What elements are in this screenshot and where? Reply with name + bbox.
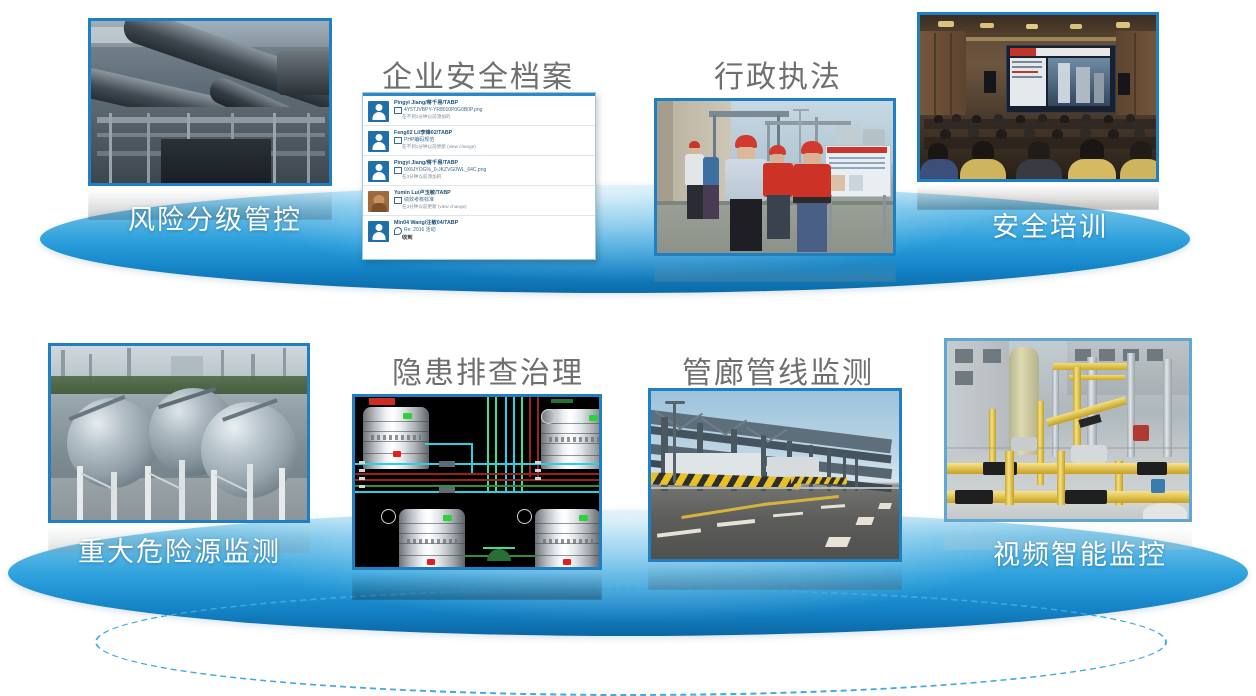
- list-item-detail: PHP编码规范: [394, 137, 590, 144]
- spherical-tanks-photo: [48, 343, 310, 523]
- list-item[interactable]: Yumin Lu/卢玉敏/TABP 绩效考核标准 在3分钟以前更新 (view …: [363, 186, 595, 216]
- list-item[interactable]: Min04 Wang/汪敏04/TABP Re: 2016 活动 收到: [363, 216, 595, 245]
- gauge-icon: [541, 409, 556, 424]
- gauge-icon: [381, 509, 396, 524]
- list-item-user: Min04 Wang/汪敏04/TABP: [394, 220, 590, 227]
- document-file-icon: [394, 137, 402, 144]
- list-item-user: Pingyi Jiang/蒋千易/TABP: [394, 100, 590, 107]
- list-item-meta: 在3分钟以前添加的: [394, 174, 590, 180]
- image-file-icon: [394, 107, 402, 114]
- avatar: [368, 101, 389, 122]
- activity-feed-panel[interactable]: Pingyi Jiang/蒋千易/TABP 4Y5TJVBPY-YR8010P0…: [362, 92, 596, 260]
- list-item-user: Feng02 Li/李锋02/TABP: [394, 130, 590, 137]
- list-item-detail: 0X6JYOG%_0-JKZVG0WL_64C.png: [394, 167, 590, 174]
- label-safety-training: 安全培训: [992, 205, 1108, 244]
- list-item-meta: 在不到1分钟以前更新 (view change): [394, 144, 590, 150]
- industrial-pipeline-photo: [88, 18, 332, 186]
- title-safety-archive: 企业安全档案: [374, 52, 582, 96]
- yellow-pipes-plant-photo: [944, 338, 1192, 522]
- avatar: [368, 131, 389, 152]
- pipe-rack-corridor-photo: [648, 388, 902, 562]
- avatar: [368, 191, 389, 212]
- title-pipeline-monitor: 管廊管线监测: [674, 348, 882, 392]
- list-item-meta: 在不到1分钟以前添加的: [394, 114, 590, 120]
- list-item-detail: 绩效考核标准: [394, 197, 590, 204]
- plant-inspection-photo: [654, 98, 896, 256]
- label-video-monitor: 视频智能监控: [993, 533, 1167, 572]
- scada-tank-farm-screen: [352, 394, 602, 570]
- gauge-icon: [517, 509, 532, 524]
- list-item[interactable]: Feng02 Li/李锋02/TABP PHP编码规范 在不到1分钟以前更新 (…: [363, 126, 595, 156]
- list-item-detail: 4Y5TJVBPY-YR8010P0G0B0P.png: [394, 107, 590, 114]
- list-item-meta: 在3分钟以前更新 (view change): [394, 204, 590, 210]
- list-item[interactable]: Pingyi Jiang/蒋千易/TABP 0X6JYOG%_0-JKZVG0W…: [363, 156, 595, 186]
- list-item-meta: 收到: [394, 235, 590, 242]
- list-item[interactable]: Pingyi Jiang/蒋千易/TABP 4Y5TJVBPY-YR8010P0…: [363, 96, 595, 126]
- list-item-detail: Re: 2016 活动: [394, 227, 590, 235]
- avatar: [368, 161, 389, 182]
- document-file-icon: [394, 197, 402, 204]
- dashed-ellipse-outline: [95, 588, 1167, 696]
- comment-icon: [394, 227, 402, 235]
- avatar: [368, 221, 389, 242]
- label-major-hazard: 重大危险源监测: [78, 530, 281, 569]
- training-auditorium-photo: [917, 12, 1159, 182]
- label-risk-grading: 风险分级管控: [128, 198, 302, 237]
- list-item-user: Pingyi Jiang/蒋千易/TABP: [394, 160, 590, 167]
- slide-canvas: 风险分级管控 企业安全档案 Pingyi Jiang/蒋千易/TABP 4Y5T…: [0, 0, 1256, 651]
- list-item-user: Yumin Lu/卢玉敏/TABP: [394, 190, 590, 197]
- title-hazard-investigation: 隐患排查治理: [384, 348, 592, 392]
- image-file-icon: [394, 167, 402, 174]
- title-law-enforcement: 行政执法: [690, 52, 866, 96]
